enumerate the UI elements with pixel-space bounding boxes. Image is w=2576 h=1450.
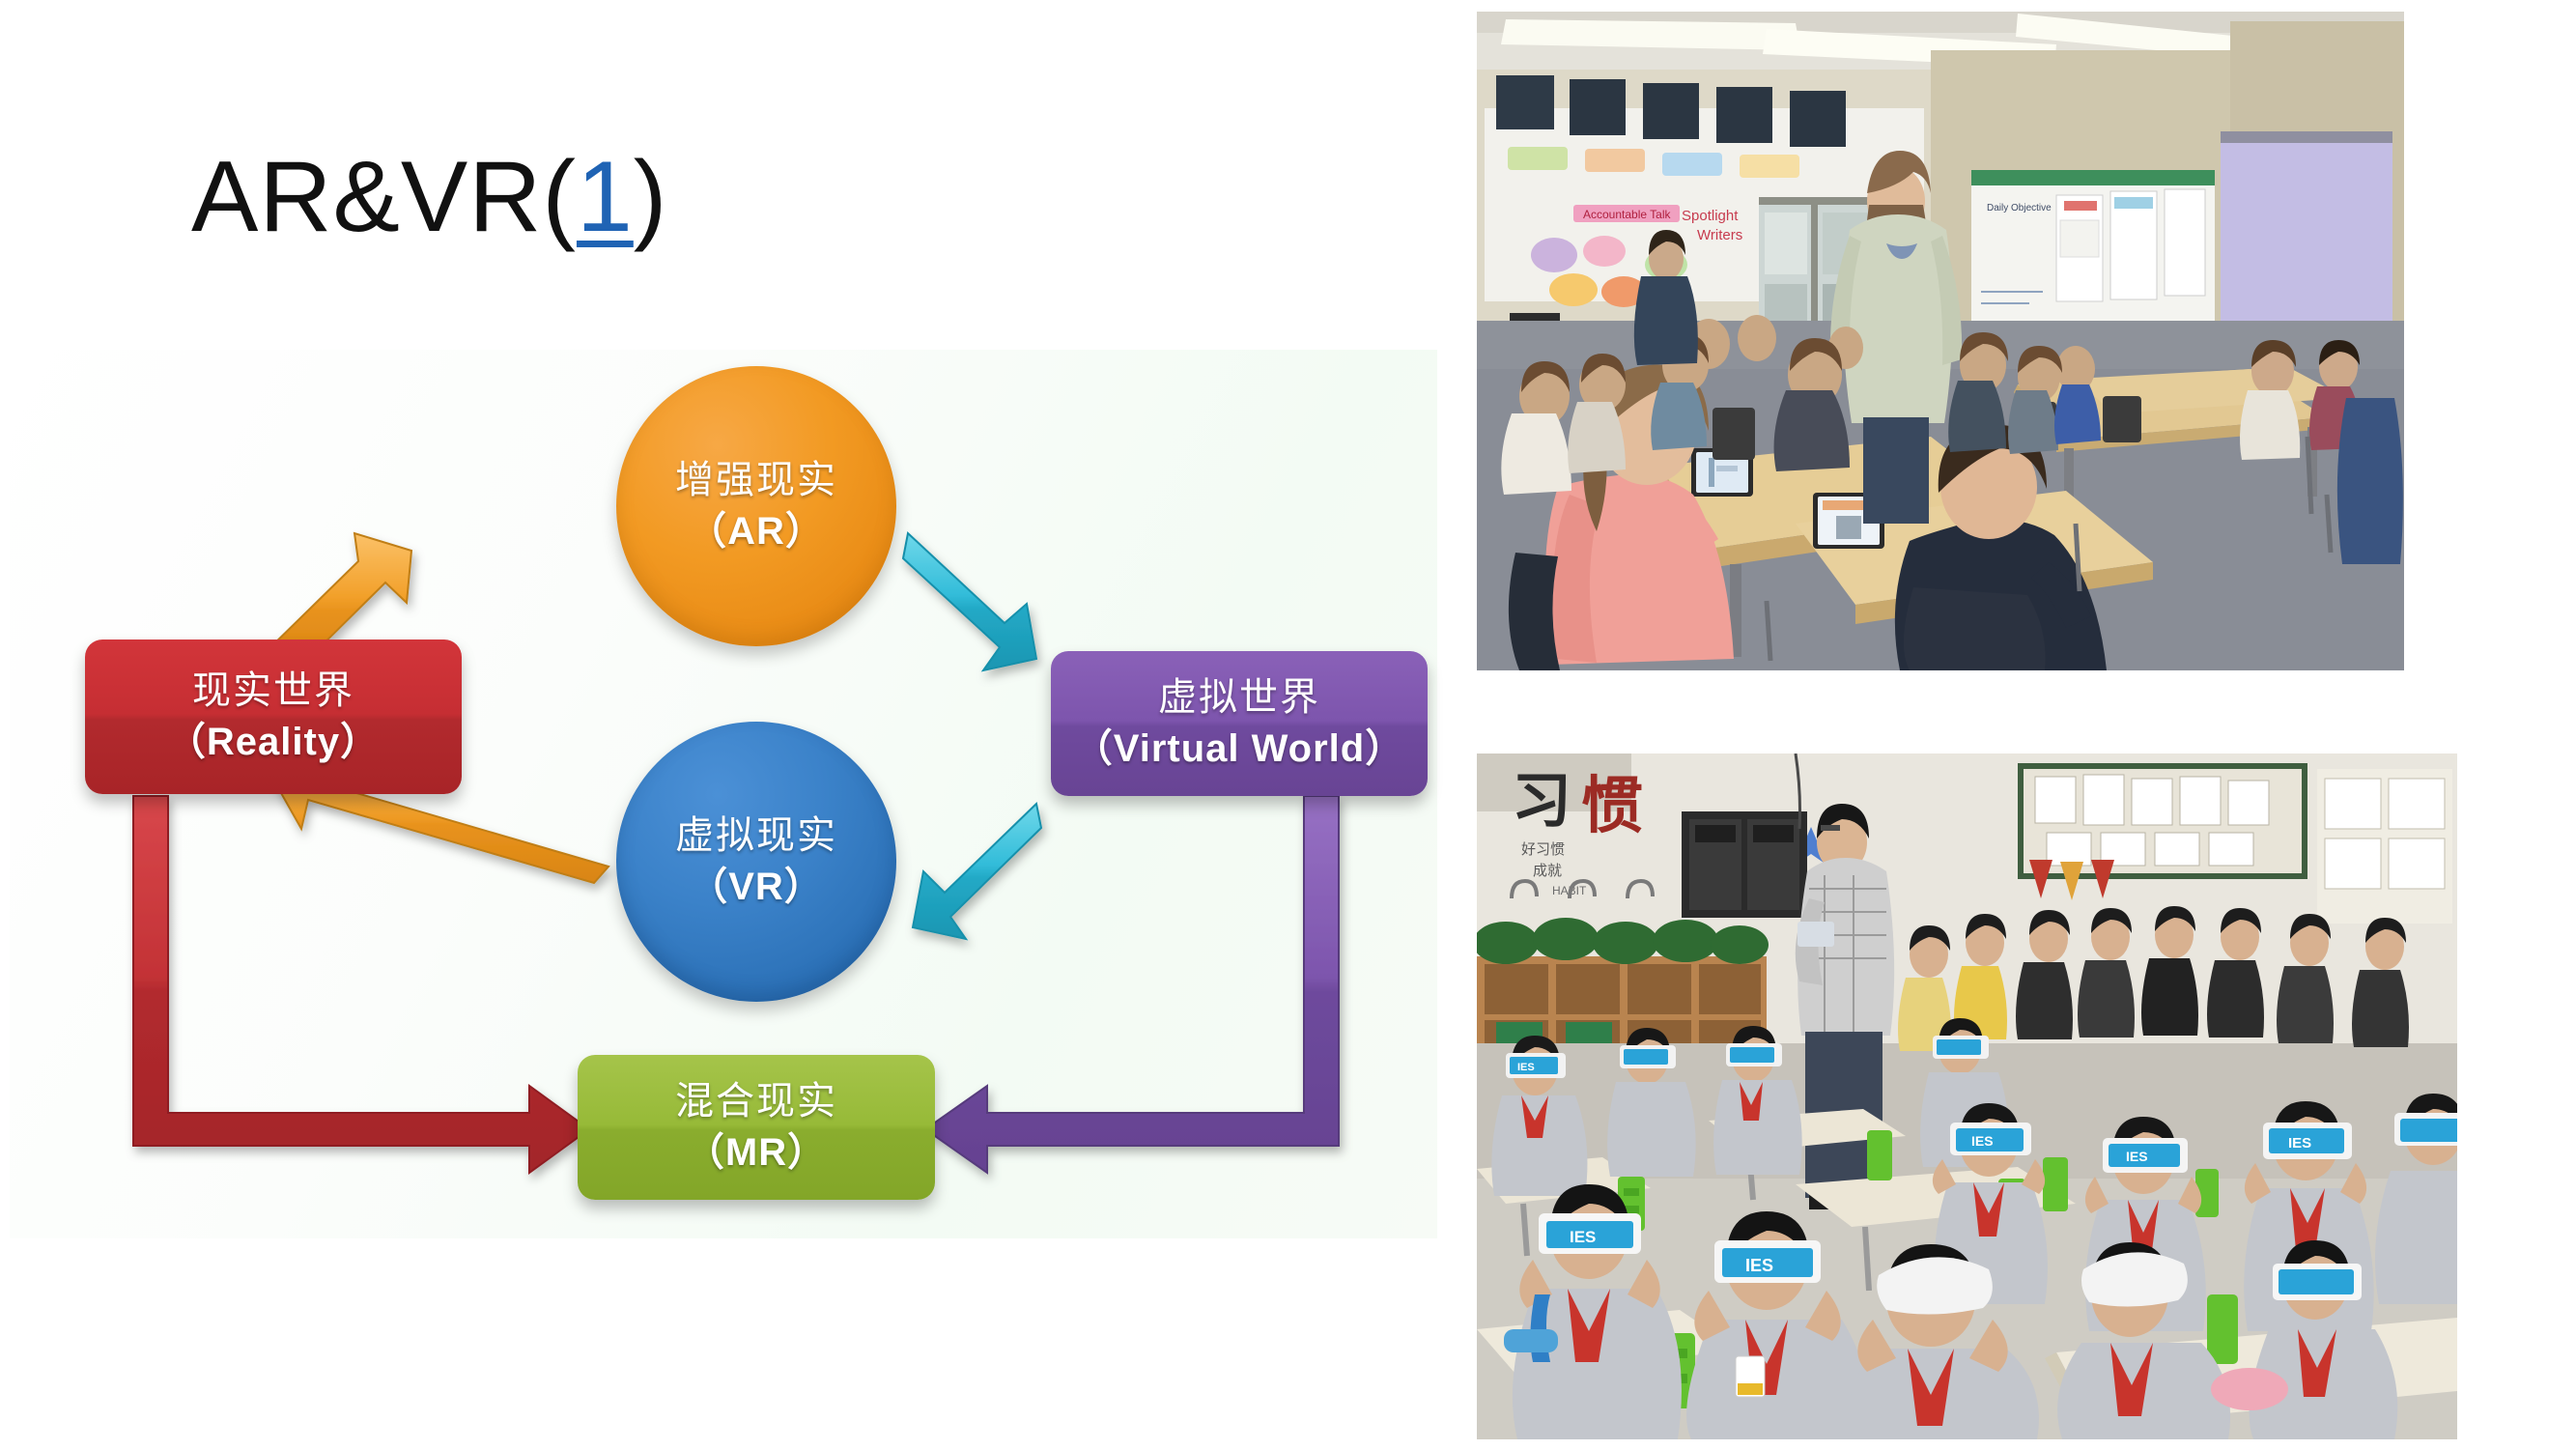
- node-vr-cn: 虚拟现实: [675, 813, 837, 859]
- node-mr-en: （MR）: [686, 1130, 827, 1176]
- node-ar-cn: 增强现实: [675, 458, 837, 503]
- node-reality-cn: 现实世界: [192, 668, 354, 714]
- arrow-ar-to-virtualworld: [903, 533, 1036, 670]
- svg-text:惯: 惯: [1581, 771, 1643, 842]
- svg-text:成就: 成就: [1533, 862, 1562, 879]
- svg-text:Accountable Talk: Accountable Talk: [1583, 208, 1672, 221]
- node-ar[interactable]: 增强现实 （AR）: [616, 366, 896, 646]
- svg-text:习: 习: [1512, 765, 1571, 836]
- svg-text:IES: IES: [2126, 1149, 2148, 1164]
- node-virtual-world-en: （Virtual World）: [1074, 726, 1404, 772]
- node-virtual-world[interactable]: 虚拟世界 （Virtual World）: [1051, 651, 1428, 796]
- node-reality-en: （Reality）: [167, 720, 380, 765]
- svg-text:IES: IES: [1517, 1062, 1535, 1073]
- svg-text:Daily Objective: Daily Objective: [1987, 203, 2052, 213]
- photo-classroom-tablets: Accountable Talk Spotlight Writers THINK…: [1477, 12, 2404, 670]
- node-reality[interactable]: 现实世界 （Reality）: [85, 640, 462, 794]
- title-link-1[interactable]: 1: [577, 141, 634, 253]
- node-vr[interactable]: 虚拟现实 （VR）: [616, 722, 896, 1002]
- svg-text:IES: IES: [1971, 1133, 1994, 1149]
- node-mr-cn: 混合现实: [675, 1079, 837, 1124]
- svg-text:Writers: Writers: [1697, 227, 1742, 243]
- svg-text:IES: IES: [2288, 1135, 2311, 1151]
- node-vr-en: （VR）: [689, 865, 824, 910]
- arrow-reality-to-mr: [133, 796, 589, 1173]
- svg-text:IES: IES: [1570, 1228, 1596, 1246]
- svg-text:Spotlight: Spotlight: [1682, 208, 1739, 224]
- node-ar-en: （AR）: [688, 509, 825, 554]
- svg-text:IES: IES: [1745, 1256, 1773, 1275]
- photo-classroom-vr: 习 惯 好习惯 成就 HABIT: [1477, 753, 2457, 1439]
- node-mr[interactable]: 混合现实 （MR）: [578, 1055, 935, 1200]
- ar-vr-mr-relationship-diagram: 现实世界 （Reality） 增强现实 （AR） 虚拟现实 （VR） 虚拟世界 …: [10, 350, 1437, 1238]
- arrow-virtualworld-to-vr: [913, 804, 1041, 939]
- title-suffix: ): [634, 141, 668, 253]
- title-prefix: AR&VR(: [191, 141, 577, 253]
- svg-text:好习惯: 好习惯: [1521, 840, 1565, 858]
- node-virtual-world-cn: 虚拟世界: [1158, 675, 1320, 721]
- page-title: AR&VR(1): [191, 147, 667, 247]
- arrow-virtualworld-to-mr: [925, 796, 1339, 1173]
